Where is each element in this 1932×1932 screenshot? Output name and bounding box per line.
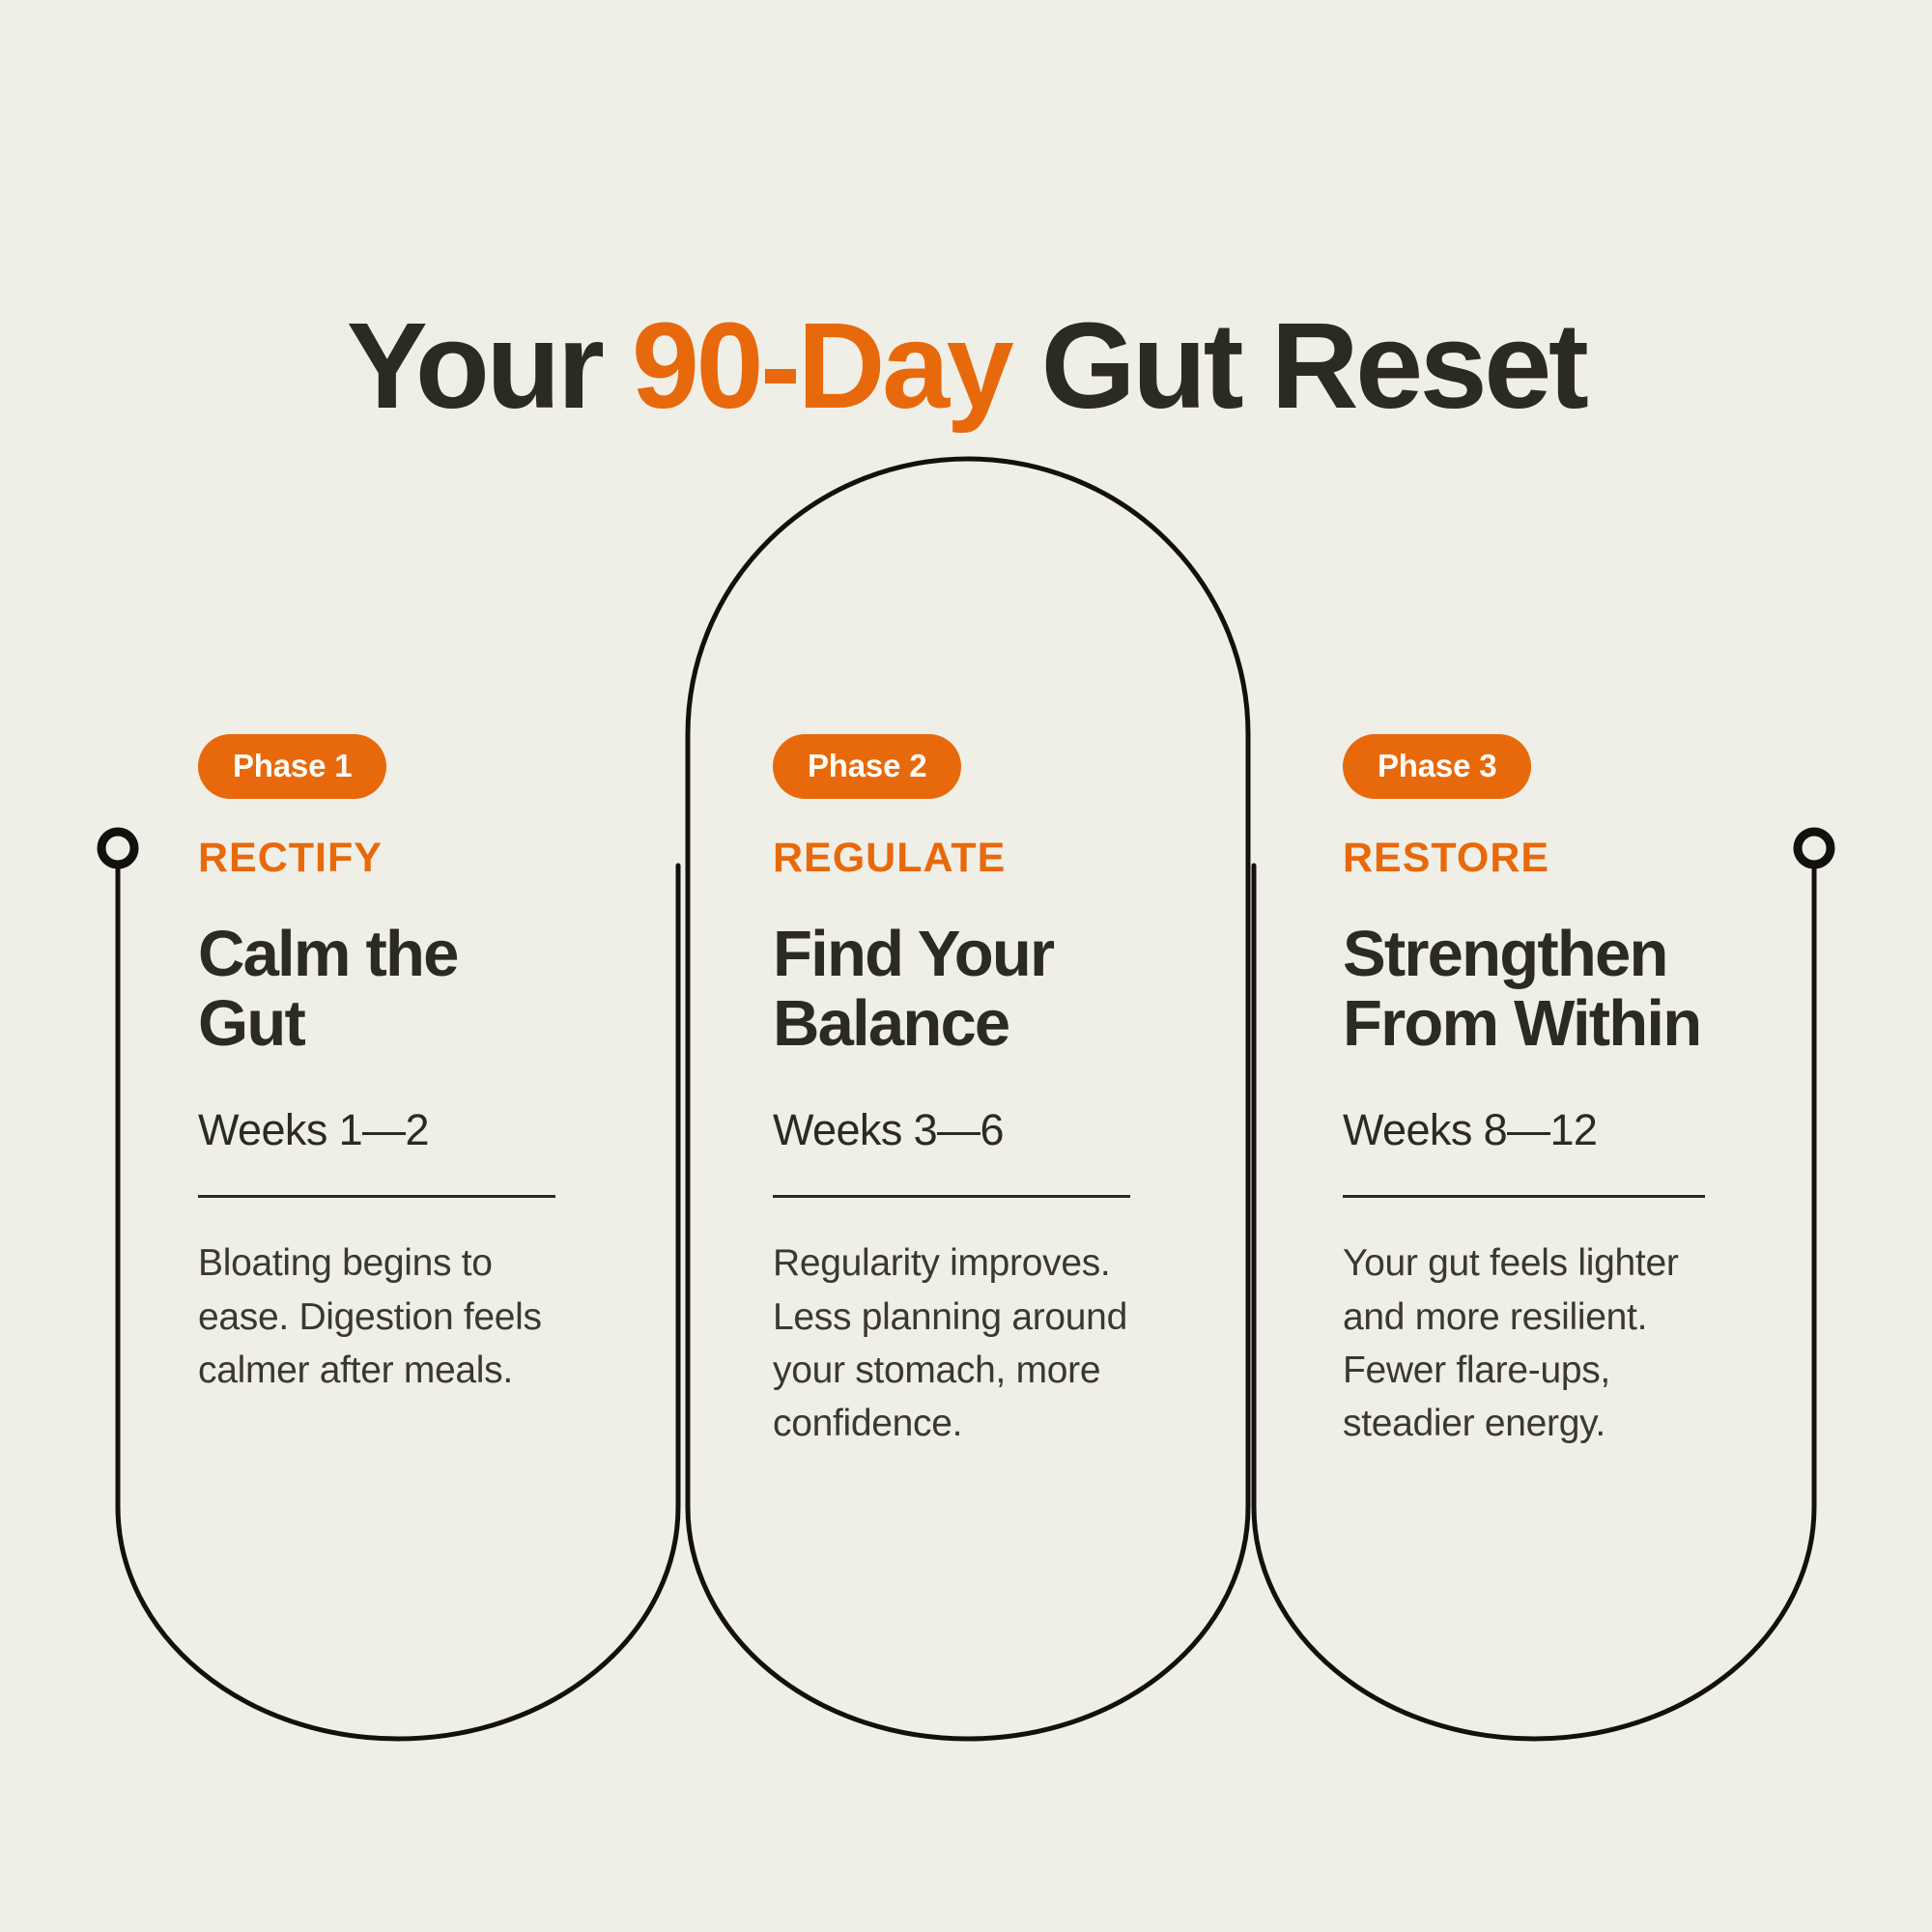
phase-column-2: Phase 2 REGULATE Find Your Balance Weeks… bbox=[773, 734, 1227, 1451]
infographic-canvas: Your 90-Day Gut Reset Phase 1 RECTIFY Ca… bbox=[0, 0, 1932, 1932]
phase-label-2: REGULATE bbox=[773, 838, 1227, 879]
phase-divider-1 bbox=[198, 1195, 555, 1198]
phase-body-3: Your gut feels lighter and more resilien… bbox=[1343, 1236, 1806, 1451]
phase-columns: Phase 1 RECTIFY Calm the Gut Weeks 1—2 B… bbox=[0, 0, 1932, 1932]
phase-badge-1: Phase 1 bbox=[198, 734, 386, 799]
phase-weeks-3: Weeks 8—12 bbox=[1343, 1106, 1806, 1154]
phase-heading-3: Strengthen From Within bbox=[1343, 920, 1806, 1060]
phase-badge-2: Phase 2 bbox=[773, 734, 961, 799]
phase-divider-2 bbox=[773, 1195, 1130, 1198]
phase-label-1: RECTIFY bbox=[198, 838, 652, 879]
phase-badge-3: Phase 3 bbox=[1343, 734, 1531, 799]
phase-body-1: Bloating begins to ease. Digestion feels… bbox=[198, 1236, 652, 1397]
phase-heading-1: Calm the Gut bbox=[198, 920, 652, 1060]
phase-weeks-2: Weeks 3—6 bbox=[773, 1106, 1227, 1154]
phase-label-3: RESTORE bbox=[1343, 838, 1806, 879]
phase-heading-2: Find Your Balance bbox=[773, 920, 1227, 1060]
phase-divider-3 bbox=[1343, 1195, 1705, 1198]
phase-column-1: Phase 1 RECTIFY Calm the Gut Weeks 1—2 B… bbox=[198, 734, 652, 1397]
phase-column-3: Phase 3 RESTORE Strengthen From Within W… bbox=[1343, 734, 1806, 1451]
phase-body-2: Regularity improves. Less planning aroun… bbox=[773, 1236, 1227, 1451]
phase-weeks-1: Weeks 1—2 bbox=[198, 1106, 652, 1154]
